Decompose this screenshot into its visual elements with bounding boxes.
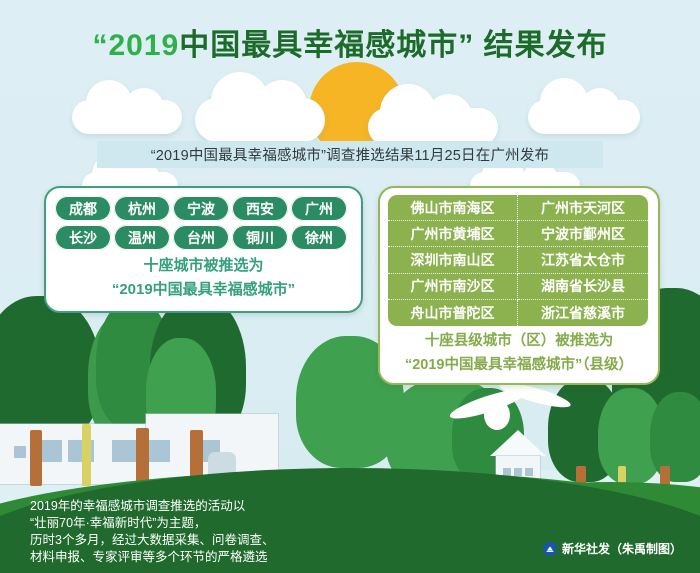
footer-line: 历时3个多月，经过大数据采集、问卷调查、 (30, 532, 274, 549)
subtitle-banner: “2019中国最具幸福感城市”调查推选结果11月25日在广州发布 (97, 141, 603, 168)
subtitle-text: “2019中国最具幸福感城市”调查推选结果11月25日在广州发布 (151, 144, 550, 165)
district-cell[interactable]: 舟山市普陀区 (388, 300, 518, 326)
district-cell[interactable]: 宁波市鄞州区 (518, 221, 648, 247)
xinhua-logo-icon (543, 542, 557, 556)
cloud-shape (195, 98, 325, 142)
footer-band: 2019年的幸福感城市调查推选的活动以 “壮丽70年·幸福新时代”为主题， 历时… (0, 460, 700, 573)
city-pill[interactable]: 温州 (114, 225, 170, 250)
city-pill[interactable]: 徐州 (291, 225, 347, 250)
city-card: 成都 杭州 宁波 西安 广州 长沙 温州 台州 铜川 徐州 十座城市被推选为 “… (44, 186, 363, 313)
cloud-shape (72, 100, 182, 134)
roof-shape (490, 430, 546, 456)
city-card-caption: 十座城市被推选为 “2019中国最具幸福感城市” (46, 254, 361, 302)
footer-text: 2019年的幸福感城市调查推选的活动以 “壮丽70年·幸福新时代”为主题， 历时… (30, 498, 274, 566)
district-cell[interactable]: 湖南省长沙县 (518, 274, 648, 300)
city-card-caption-line2: “2019中国最具幸福感城市” (46, 278, 361, 302)
city-pill[interactable]: 铜川 (232, 225, 288, 250)
district-card: 佛山市南海区 广州市天河区 广州市黄埔区 宁波市鄞州区 深圳市南山区 江苏省太仓… (378, 186, 660, 385)
city-card-caption-line1: 十座城市被推选为 (46, 254, 361, 278)
district-cell[interactable]: 江苏省太仓市 (518, 247, 648, 273)
city-pill[interactable]: 成都 (55, 196, 111, 221)
credit-text: 新华社发（朱禹制图） (562, 540, 682, 557)
district-cell[interactable]: 广州市天河区 (518, 195, 648, 221)
district-cell[interactable]: 广州市黄埔区 (388, 221, 518, 247)
district-cell[interactable]: 广州市南沙区 (388, 274, 518, 300)
title-year: “2019 (92, 29, 179, 62)
city-pill[interactable]: 广州 (291, 196, 347, 221)
city-pill[interactable]: 杭州 (114, 196, 170, 221)
district-cell[interactable]: 浙江省慈溪市 (518, 300, 648, 326)
district-card-caption-line1: 十座县级城市（区）被推选为 (380, 329, 658, 353)
infographic-poster: “2019中国最具幸福感城市” 结果发布 “2019中国最具幸福感城市”调查推选… (0, 0, 700, 573)
district-table: 佛山市南海区 广州市天河区 广州市黄埔区 宁波市鄞州区 深圳市南山区 江苏省太仓… (388, 195, 648, 326)
window-shape (112, 440, 138, 462)
title-rest: 中国最具幸福感城市” 结果发布 (179, 29, 607, 62)
city-pill[interactable]: 台州 (173, 225, 229, 250)
footer-line: 2019年的幸福感城市调查推选的活动以 (30, 498, 274, 515)
city-pill[interactable]: 长沙 (55, 225, 111, 250)
district-cell[interactable]: 佛山市南海区 (388, 195, 518, 221)
district-card-caption: 十座县级城市（区）被推选为 “2019中国最具幸福感城市”（县级） (380, 329, 658, 377)
district-cell[interactable]: 深圳市南山区 (388, 247, 518, 273)
city-pill-grid: 成都 杭州 宁波 西安 广州 长沙 温州 台州 铜川 徐州 (55, 196, 352, 250)
cloud-shape (528, 100, 640, 134)
city-pill[interactable]: 西安 (232, 196, 288, 221)
bird-icon (484, 400, 510, 430)
footer-line: 材料申报、专家评审等多个环节的严格遴选 (30, 549, 274, 566)
credit-line: 新华社发（朱禹制图） (543, 540, 682, 557)
page-title: “2019中国最具幸福感城市” 结果发布 (0, 20, 700, 64)
window-shape (14, 446, 26, 458)
footer-line: “壮丽70年·幸福新时代”为主题， (30, 515, 274, 532)
city-pill[interactable]: 宁波 (173, 196, 229, 221)
district-card-caption-line2: “2019中国最具幸福感城市”（县级） (380, 353, 658, 377)
